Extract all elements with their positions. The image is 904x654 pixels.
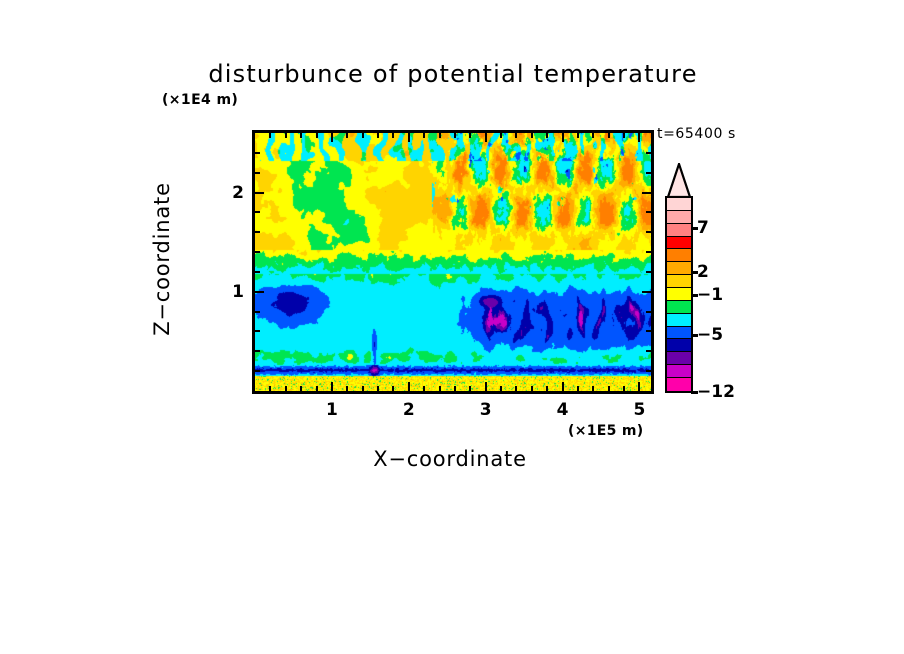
x-axis-unit-label: (×1E5 m) (568, 423, 643, 439)
x-tick-label: 4 (557, 400, 569, 420)
colorbar-band (667, 275, 691, 288)
colorbar-tick-mark (691, 271, 698, 274)
colorbar-band (667, 378, 691, 391)
colorbar-band (667, 224, 691, 237)
colorbar-band (667, 327, 691, 340)
colorbar-band (667, 339, 691, 352)
x-tick-label: 1 (326, 400, 338, 420)
colorbar-band (667, 211, 691, 224)
colorbar-tick-mark (691, 334, 698, 337)
colorbar-tick-label: −1 (697, 285, 723, 305)
x-tick-label: 3 (480, 400, 492, 420)
y-axis-unit-label: (×1E4 m) (162, 92, 238, 108)
colorbar-band (667, 301, 691, 314)
colorbar-tick-mark (691, 227, 698, 230)
colorbar[interactable] (665, 196, 693, 393)
contour-field (255, 133, 651, 391)
x-tick-label: 5 (634, 400, 646, 420)
x-axis-title: X−coordinate (252, 447, 648, 471)
y-axis-title: Z−coordinate (150, 133, 174, 385)
colorbar-tick-mark (691, 294, 698, 297)
colorbar-tick-label: 7 (697, 218, 709, 238)
colorbar-arrow-icon (665, 163, 693, 198)
colorbar-tick-label: −12 (697, 382, 735, 402)
figure-canvas: disturbunce of potential temperature (×1… (0, 0, 904, 654)
x-tick-label: 2 (403, 400, 415, 420)
colorbar-band (667, 314, 691, 327)
colorbar-band (667, 237, 691, 250)
colorbar-tick-label: −5 (697, 325, 723, 345)
colorbar-band (667, 262, 691, 275)
contour-plot-area[interactable] (252, 130, 654, 394)
colorbar-band (667, 352, 691, 365)
page-title: disturbunce of potential temperature (168, 60, 738, 88)
colorbar-band (667, 249, 691, 262)
y-tick-label: 1 (224, 282, 244, 302)
colorbar-band (667, 288, 691, 301)
y-tick-label: 2 (224, 183, 244, 203)
colorbar-tick-label: 2 (697, 262, 709, 282)
colorbar-band (667, 198, 691, 211)
colorbar-tick-mark (691, 391, 698, 394)
colorbar-band (667, 365, 691, 378)
timestamp-annotation: t=65400 s (657, 126, 736, 142)
